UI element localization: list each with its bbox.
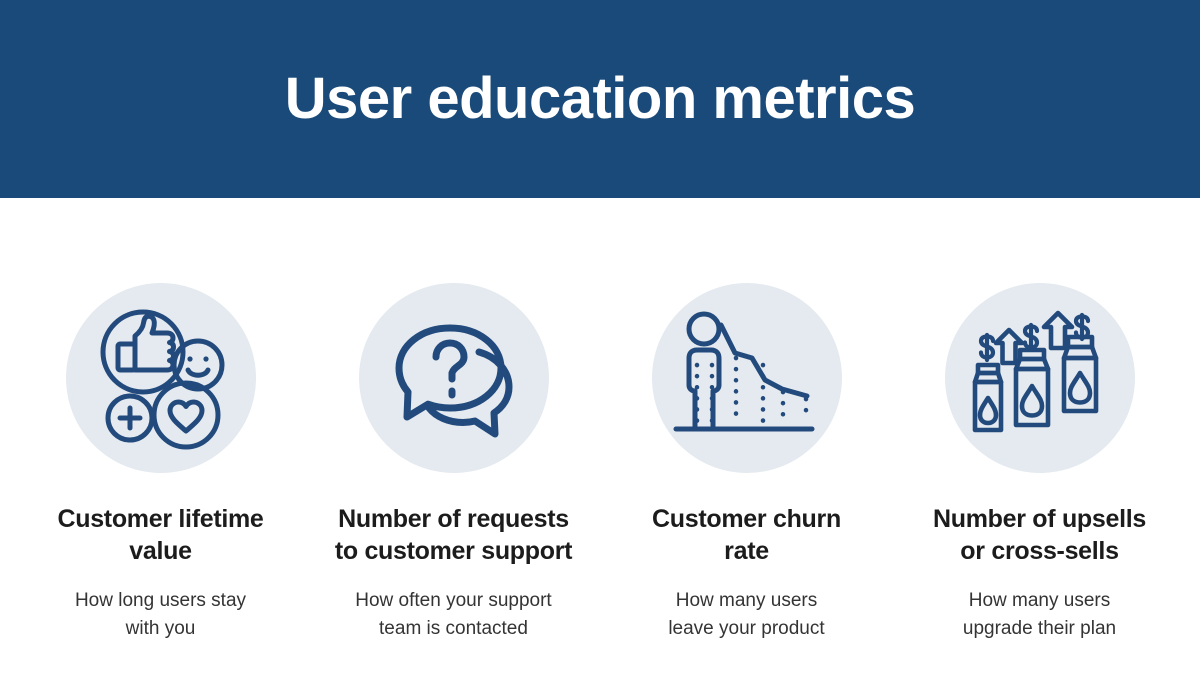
metric-title: Customer lifetime value [57,503,263,567]
speech-bubbles-question-icon [379,303,529,453]
icon-circle-3 [652,283,842,473]
metric-title: Number of requests to customer support [335,503,572,567]
metric-description: How often your support team is contacted [355,587,551,642]
metrics-row: Customer lifetime value How long users s… [0,198,1200,700]
header-banner: User education metrics [0,0,1200,198]
metric-title: Customer churn rate [652,503,841,567]
metric-card-number-of-requests: Number of requests to customer support H… [311,198,596,642]
person-declining-chart-icon [672,303,822,453]
metric-card-number-of-upsells: Number of upsells or cross-sells How man… [897,198,1182,642]
slide-root: User education metrics [0,0,1200,700]
thumbs-up-reactions-icon [86,303,236,453]
icon-circle-2 [359,283,549,473]
icon-circle-1 [66,283,256,473]
metric-description: How long users stay with you [75,587,246,642]
metric-card-customer-lifetime-value: Customer lifetime value How long users s… [18,198,303,642]
page-title: User education metrics [285,70,915,128]
metric-description: How many users leave your product [668,587,824,642]
metric-description: How many users upgrade their plan [963,587,1116,642]
icon-circle-4 [945,283,1135,473]
bottles-dollar-growth-icon [965,303,1115,453]
metric-card-customer-churn-rate: Customer churn rate How many users leave… [604,198,889,642]
metric-title: Number of upsells or cross-sells [933,503,1146,567]
